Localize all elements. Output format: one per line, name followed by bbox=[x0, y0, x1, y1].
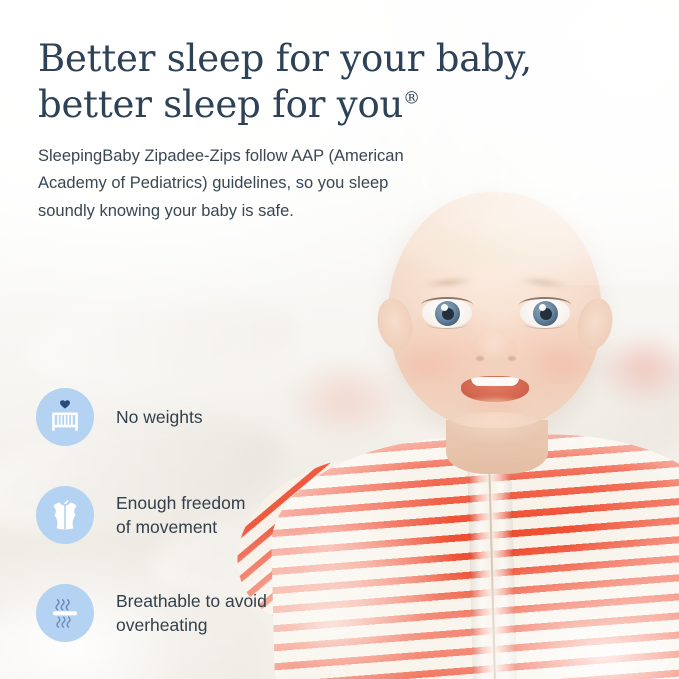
headline: Better sleep for your baby,better sleep … bbox=[38, 36, 538, 128]
feature-item-freedom-of-movement: Enough freedom of movement bbox=[36, 486, 267, 544]
feature-item-no-weights: No weights bbox=[36, 388, 267, 446]
crib-heart-icon bbox=[36, 388, 94, 446]
breathable-airflow-icon bbox=[36, 584, 94, 642]
feature-label: Enough freedom of movement bbox=[116, 491, 245, 539]
sleep-sack-icon bbox=[36, 486, 94, 544]
feature-item-breathable: Breathable to avoid overheating bbox=[36, 584, 267, 642]
product-feature-banner: Better sleep for your baby,better sleep … bbox=[0, 0, 679, 679]
feature-label: No weights bbox=[116, 405, 203, 429]
feature-list: No weights Enough freedom of movement bbox=[36, 388, 267, 642]
banner-content: Better sleep for your baby,better sleep … bbox=[0, 0, 679, 679]
registered-trademark-symbol: ® bbox=[403, 89, 420, 109]
headline-line-1: Better sleep for your baby, bbox=[38, 37, 532, 80]
headline-line-2: better sleep for you bbox=[38, 83, 403, 126]
feature-label: Breathable to avoid overheating bbox=[116, 589, 267, 637]
subheadline: SleepingBaby Zipadee-Zips follow AAP (Am… bbox=[38, 143, 490, 225]
